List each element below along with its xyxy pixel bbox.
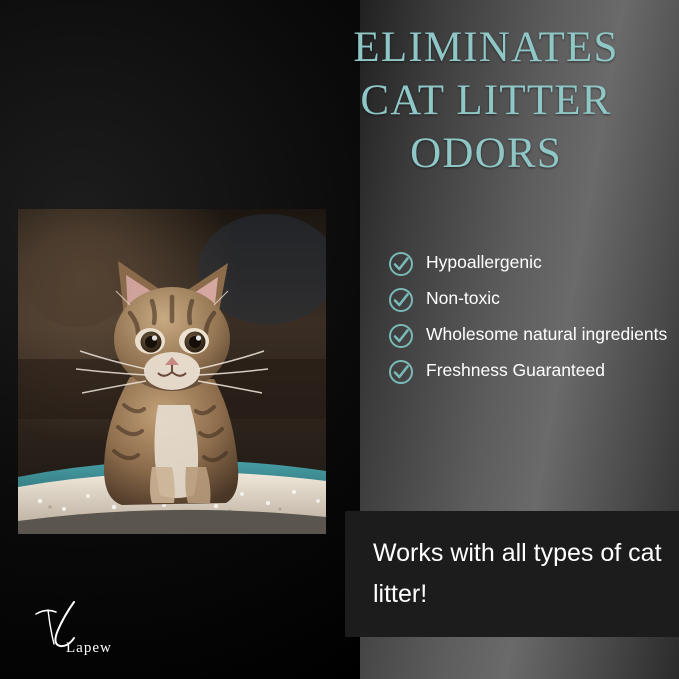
advertisement-image: ELIMINATES CAT LITTER ODORS — [0, 0, 679, 679]
check-circle-icon — [388, 251, 414, 277]
caption-text: Works with all types of cat litter! — [373, 533, 663, 615]
list-item: Wholesome natural ingredients — [388, 322, 672, 349]
feature-label: Freshness Guaranteed — [426, 358, 605, 382]
check-circle-icon — [388, 287, 414, 313]
caption-box: Works with all types of cat litter! — [345, 511, 679, 637]
list-item: Hypoallergenic — [388, 250, 672, 277]
headline: ELIMINATES CAT LITTER ODORS — [300, 22, 672, 181]
feature-label: Non-toxic — [426, 286, 500, 310]
brand-name: Lapew — [66, 640, 112, 657]
product-photo — [18, 209, 326, 534]
headline-line-1: ELIMINATES — [300, 22, 672, 75]
list-item: Non-toxic — [388, 286, 672, 313]
feature-list: Hypoallergenic Non-toxic Wholesome natur… — [388, 250, 672, 394]
check-circle-icon — [388, 323, 414, 349]
feature-label: Hypoallergenic — [426, 250, 542, 274]
check-circle-icon — [388, 359, 414, 385]
feature-label: Wholesome natural ingredients — [426, 322, 667, 346]
headline-line-3: ODORS — [300, 128, 672, 181]
headline-line-2: CAT LITTER — [300, 75, 672, 128]
kitten-photo-illustration — [18, 209, 326, 534]
brand-logo: Lapew — [30, 600, 150, 662]
list-item: Freshness Guaranteed — [388, 358, 672, 385]
